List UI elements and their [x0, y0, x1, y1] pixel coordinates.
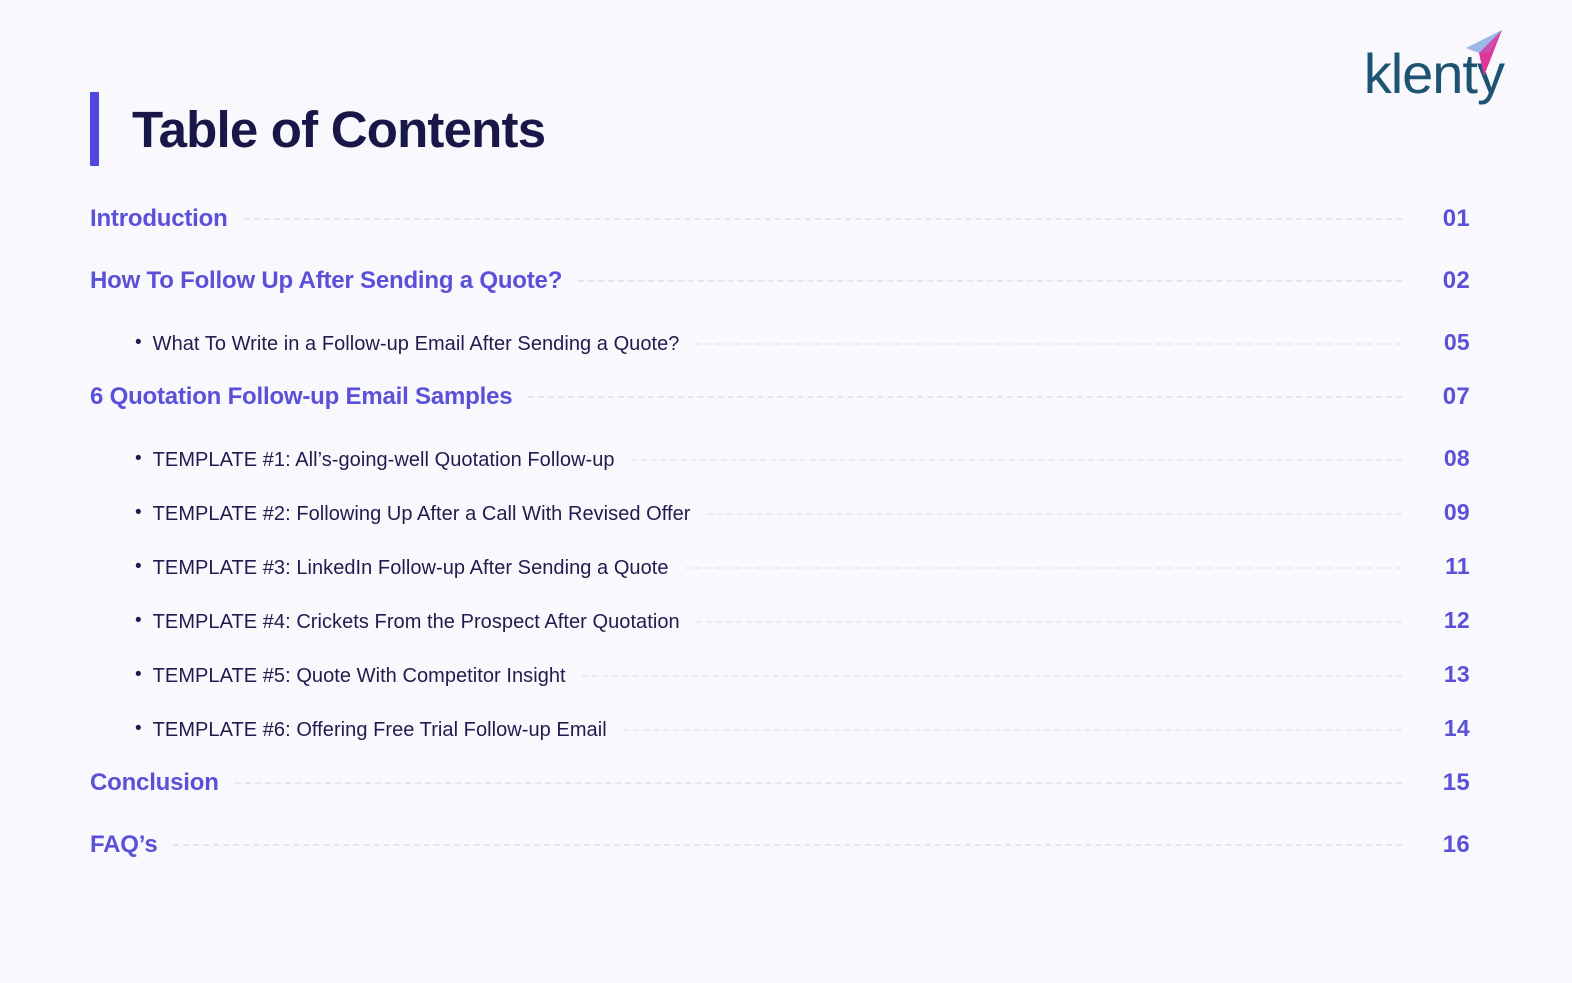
table-of-contents-list: Introduction01How To Follow Up After Sen… [90, 205, 1470, 893]
leader-dots [696, 621, 1402, 623]
brand-wordmark: klenty [1364, 46, 1504, 102]
bullet-icon: • [135, 449, 142, 468]
toc-entry-label: TEMPLATE #4: Crickets From the Prospect … [153, 611, 680, 634]
bullet-icon: • [135, 719, 142, 738]
klenty-logo: klenty [1364, 40, 1504, 102]
leader-dots [173, 844, 1402, 846]
toc-entry-main[interactable]: Introduction01 [90, 205, 1470, 267]
toc-entry-page-number: 07 [1418, 383, 1470, 411]
toc-entry-label: FAQ’s [90, 831, 157, 859]
page-title-block: Table of Contents [90, 92, 545, 166]
toc-entry-main[interactable]: FAQ’s16 [90, 831, 1470, 893]
toc-entry-page-number: 02 [1418, 267, 1470, 295]
toc-entry-sub[interactable]: •TEMPLATE #3: LinkedIn Follow-up After S… [90, 553, 1470, 607]
bullet-icon: • [135, 611, 142, 630]
toc-entry-label: TEMPLATE #6: Offering Free Trial Follow-… [153, 719, 607, 742]
bullet-icon: • [135, 557, 142, 576]
leader-dots [528, 396, 1402, 398]
toc-entry-sub[interactable]: •TEMPLATE #5: Quote With Competitor Insi… [90, 661, 1470, 715]
toc-entry-sub[interactable]: •What To Write in a Follow-up Email Afte… [90, 329, 1470, 383]
toc-entry-page-number: 11 [1418, 553, 1470, 580]
toc-entry-label: TEMPLATE #2: Following Up After a Call W… [153, 503, 691, 526]
toc-entry-page-number: 15 [1418, 769, 1470, 797]
toc-entry-label: 6 Quotation Follow-up Email Samples [90, 383, 512, 411]
bullet-icon: • [135, 503, 142, 522]
toc-entry-sub[interactable]: •TEMPLATE #4: Crickets From the Prospect… [90, 607, 1470, 661]
leader-dots [631, 459, 1402, 461]
bullet-icon: • [135, 665, 142, 684]
leader-dots [244, 218, 1402, 220]
toc-entry-sub[interactable]: •TEMPLATE #6: Offering Free Trial Follow… [90, 715, 1470, 769]
toc-entry-main[interactable]: 6 Quotation Follow-up Email Samples07 [90, 383, 1470, 445]
leader-dots [685, 567, 1402, 569]
leader-dots [578, 280, 1402, 282]
toc-entry-label: TEMPLATE #1: All’s-going-well Quotation … [153, 449, 615, 472]
toc-entry-main[interactable]: How To Follow Up After Sending a Quote?0… [90, 267, 1470, 329]
toc-page: klenty Table of Contents Introduction01H… [0, 0, 1572, 983]
leader-dots [695, 343, 1402, 345]
page-header: klenty Table of Contents [0, 0, 1572, 200]
leader-dots [623, 729, 1402, 731]
toc-entry-sub[interactable]: •TEMPLATE #2: Following Up After a Call … [90, 499, 1470, 553]
toc-entry-page-number: 09 [1418, 499, 1470, 526]
leader-dots [235, 782, 1402, 784]
toc-entry-label: What To Write in a Follow-up Email After… [153, 333, 680, 356]
title-accent-bar [90, 92, 99, 166]
toc-entry-label: Conclusion [90, 769, 219, 797]
toc-entry-label: TEMPLATE #5: Quote With Competitor Insig… [153, 665, 566, 688]
toc-entry-page-number: 05 [1418, 329, 1470, 356]
toc-entry-page-number: 16 [1418, 831, 1470, 859]
toc-entry-label: TEMPLATE #3: LinkedIn Follow-up After Se… [153, 557, 669, 580]
leader-dots [582, 675, 1402, 677]
toc-entry-main[interactable]: Conclusion15 [90, 769, 1470, 831]
toc-entry-page-number: 08 [1418, 445, 1470, 472]
bullet-icon: • [135, 333, 142, 352]
toc-entry-label: How To Follow Up After Sending a Quote? [90, 267, 562, 295]
toc-entry-label: Introduction [90, 205, 228, 233]
page-title: Table of Contents [132, 104, 545, 155]
toc-entry-page-number: 12 [1418, 607, 1470, 634]
toc-entry-page-number: 01 [1418, 205, 1470, 233]
leader-dots [707, 513, 1402, 515]
toc-entry-page-number: 13 [1418, 661, 1470, 688]
toc-entry-page-number: 14 [1418, 715, 1470, 742]
toc-entry-sub[interactable]: •TEMPLATE #1: All’s-going-well Quotation… [90, 445, 1470, 499]
